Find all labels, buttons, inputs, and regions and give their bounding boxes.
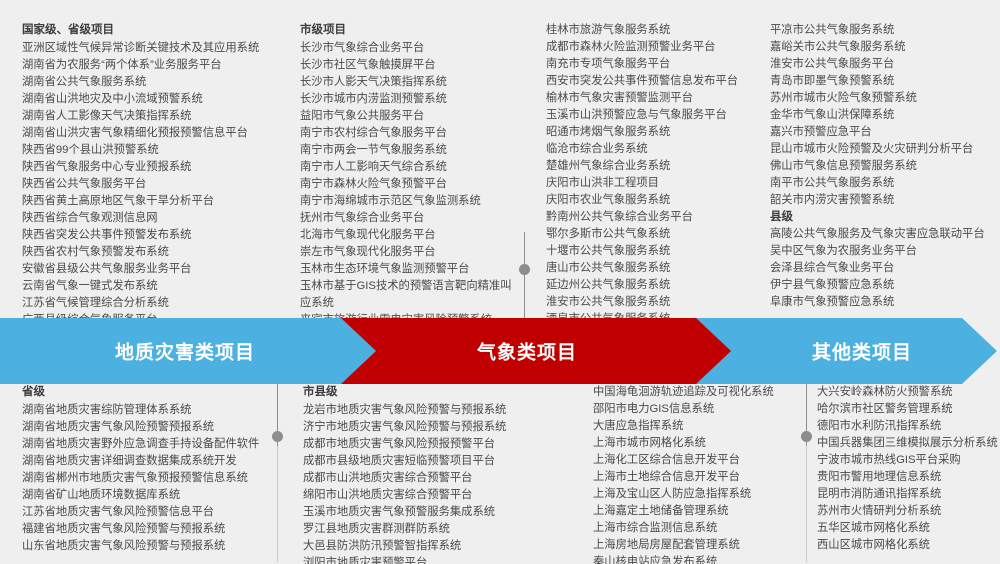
project-item: 南充市专项气象服务平台 [546,56,742,73]
project-item: 桂林市旅游气象服务系统 [546,22,742,39]
project-item: 南平市公共气象服务系统 [770,175,994,192]
project-item: 长沙市社区气象触摸屏平台 [300,57,518,74]
project-item: 中国海龟洄游轨迹追踪及可视化系统 [593,384,789,401]
project-item: 延边州公共气象服务系统 [546,277,742,294]
project-item: 苏州市火情研判分析系统 [817,503,994,520]
project-item: 亚洲区域性气候异常诊断关键技术及其应用系统 [22,40,272,57]
project-item: 会泽县综合气象业务平台 [770,260,994,277]
column-heading: 省级 [22,384,275,401]
geology-and-other-projects-region: 省级 湖南省地质灾害综防管理体系系统 湖南省地质灾害气象风险预警预报系统 湖南省… [0,384,1000,564]
project-item: 湖南省矿山地质环境数据库系统 [22,487,275,504]
column-heading: 市级项目 [300,22,518,39]
project-item: 唐山市公共气象服务系统 [546,260,742,277]
top-column-county-level: 平凉市公共气象服务系统 嘉峪关市公共气象服务系统 淮安市公共气象服务平台 青岛市… [748,22,1000,318]
project-item: 成都市森林火险监测预警业务平台 [546,39,742,56]
project-item: 韶关市内涝灾害预警系统 [770,192,994,209]
project-item: 上海市综合监测信息系统 [593,520,789,537]
project-item: 青岛市即墨气象预警系统 [770,73,994,90]
project-item: 哈尔滨市社区警务管理系统 [817,401,994,418]
project-item: 山东省地质灾害气象风险预警与预报系统 [22,538,275,555]
project-item: 南宁市农村综合气象服务平台 [300,125,518,142]
project-item: 陕西省99个县山洪预警系统 [22,142,272,159]
project-item: 湖南省人工影像天气决策指挥系统 [22,108,272,125]
project-item: 大兴安岭森林防火预警系统 [817,384,994,401]
project-item: 阜康市气象预警应急系统 [770,294,994,311]
project-item: 益阳市气象公共服务平台 [300,108,518,125]
project-item: 湖南省为农服务“两个体系”业务服务平台 [22,57,272,74]
project-item: 西山区城市网格化系统 [817,537,994,554]
bottom-column-provincial: 省级 湖南省地质灾害综防管理体系系统 湖南省地质灾害气象风险预警预报系统 湖南省… [0,384,281,564]
bottom-column-other-projects: 中国海龟洄游轨迹追踪及可视化系统 邵阳市电力GIS信息系统 大唐应急指挥系统 上… [571,384,795,564]
project-item: 嘉兴市预警应急平台 [770,124,994,141]
project-item: 平凉市公共气象服务系统 [770,22,994,39]
project-item: 成都市地质灾害气象风险预报预警平台 [303,436,565,453]
project-item: 淮安市公共气象服务平台 [770,56,994,73]
project-item: 昆山市城市火险预警及火灾研判分析平台 [770,141,994,158]
project-item: 秦山核电站应急发布系统 [593,554,789,564]
connector-dot-weather [519,264,530,275]
project-item: 玉林市生态环境气象监测预警平台 [300,261,518,278]
project-item: 陕西省突发公共事件预警发布系统 [22,227,272,244]
project-item: 吴中区气象为农服务业务平台 [770,243,994,260]
project-item: 邵阳市电力GIS信息系统 [593,401,789,418]
connector-dot-geology [272,431,283,442]
top-column-national-provincial: 国家级、省级项目 亚洲区域性气候异常诊断关键技术及其应用系统 湖南省为农服务“两… [0,22,278,318]
project-item: 伊宁县气象预警应急系统 [770,277,994,294]
project-item: 南宁市两会一节气象服务系统 [300,142,518,159]
top-column-city-level: 市级项目 长沙市气象综合业务平台 长沙市社区气象触摸屏平台 长沙市人影天气决策指… [278,22,524,318]
banner-label-weather: 气象类项目 [477,338,577,365]
connector-dot-other [801,431,812,442]
project-item: 上海及宝山区人防应急指挥系统 [593,486,789,503]
project-item: 庆阳市山洪非工程项目 [546,175,742,192]
project-item: 陕西省农村气象预警发布系统 [22,244,272,261]
project-item: 嘉峪关市公共气象服务系统 [770,39,994,56]
project-item: 玉溪市地质灾害气象预警服务集成系统 [303,504,565,521]
column-heading: 市县级 [303,384,565,401]
project-item: 苏州市城市火险气象预警系统 [770,90,994,107]
project-item: 德阳市水利防汛指挥系统 [817,418,994,435]
connector-line-weather [524,232,525,318]
project-item: 陕西省综合气象观测信息网 [22,210,272,227]
project-item: 黔南州公共气象综合业务平台 [546,209,742,226]
project-item: 庆阳市农业气象服务系统 [546,192,742,209]
project-item: 绵阳市山洪地质灾害综合预警平台 [303,487,565,504]
project-item: 云南省气象一键式发布系统 [22,278,272,295]
slide-root: 国家级、省级项目 亚洲区域性气候异常诊断关键技术及其应用系统 湖南省为农服务“两… [0,0,1000,564]
project-item: 济宁市地质灾害气象风险预警与预报系统 [303,419,565,436]
project-item: 鄂尔多斯市公共气象系统 [546,226,742,243]
project-item: 长沙市城市内涝监测预警系统 [300,91,518,108]
project-item: 南宁市森林火险气象预警平台 [300,176,518,193]
project-item: 安徽省县级公共气象服务业务平台 [22,261,272,278]
project-item: 贵阳市警用地理信息系统 [817,469,994,486]
project-item: 上海市城市网格化系统 [593,435,789,452]
project-item: 浏阳市地质灾害预警平台 [303,555,565,564]
banner-label-other: 其他类项目 [812,338,912,365]
project-item: 抚州市气象综合业务平台 [300,210,518,227]
weather-projects-region: 国家级、省级项目 亚洲区域性气候异常诊断关键技术及其应用系统 湖南省为农服务“两… [0,0,1000,318]
column-heading: 国家级、省级项目 [22,22,272,39]
project-item: 湖南省地质灾害详细调查数据集成系统开发 [22,453,275,470]
project-item: 临沧市综合业务系统 [546,141,742,158]
category-banner: 地质灾害类项目 气象类项目 其他类项目 [0,318,1000,384]
project-item: 江苏省气候管理综合分析系统 [22,295,272,312]
project-item: 高陵公共气象服务及气象灾害应急联动平台 [770,226,994,243]
project-item: 湖南省地质灾害气象风险预警预报系统 [22,419,275,436]
project-item: 成都市山洪地质灾害综合预警平台 [303,470,565,487]
project-item: 湖南省郴州市地质灾害气象预报预警信息系统 [22,470,275,487]
project-item: 湖南省山洪灾害气象精细化预报预警信息平台 [22,125,272,142]
project-item: 长沙市气象综合业务平台 [300,40,518,57]
project-item: 玉林市基于GIS技术的预警语言靶向精准叫应系统 [300,278,518,312]
project-item: 金华市气象山洪保障系统 [770,107,994,124]
project-item: 楚雄州气象综合业务系统 [546,158,742,175]
project-item: 五华区城市网格化系统 [817,520,994,537]
project-item: 中国兵器集团三维模拟展示分析系统 [817,435,994,452]
bottom-column-city-county: 市县级 龙岩市地质灾害气象风险预警与预报系统 济宁市地质灾害气象风险预警与预报系… [281,384,571,564]
top-column-city-level-continued: 桂林市旅游气象服务系统 成都市森林火险监测预警业务平台 南充市专项气象服务平台 … [524,22,748,318]
bottom-column-other-projects-continued: 大兴安岭森林防火预警系统 哈尔滨市社区警务管理系统 德阳市水利防汛指挥系统 中国… [795,384,1000,564]
project-item: 昭通市烤烟气象服务系统 [546,124,742,141]
project-item: 南宁市海绵城市示范区气象监测系统 [300,193,518,210]
project-item: 长沙市人影天气决策指挥系统 [300,74,518,91]
project-item: 大唐应急指挥系统 [593,418,789,435]
project-item: 上海嘉定土地储备管理系统 [593,503,789,520]
project-item: 龙岩市地质灾害气象风险预警与预报系统 [303,402,565,419]
project-item: 十堰市公共气象服务系统 [546,243,742,260]
project-item: 上海市土地综合信息开发平台 [593,469,789,486]
project-item: 宁波市城市热线GIS平台采购 [817,452,994,469]
project-item: 西安市突发公共事件预警信息发布平台 [546,73,742,90]
project-item: 江苏省地质灾害气象风险预警信息平台 [22,504,275,521]
project-item: 昆明市消防通讯指挥系统 [817,486,994,503]
project-item: 湖南省公共气象服务系统 [22,74,272,91]
column-subheading: 县级 [770,209,994,226]
project-item: 罗江县地质灾害群测群防系统 [303,521,565,538]
project-item: 上海房地局房屋配套管理系统 [593,537,789,554]
project-item: 榆林市气象灾害预警监测平台 [546,90,742,107]
project-item: 福建省地质灾害气象风险预警与预报系统 [22,521,275,538]
project-item: 大邑县防洪防汛预警智指挥系统 [303,538,565,555]
project-item: 陕西省公共气象服务平台 [22,176,272,193]
project-item: 陕西省黄土高原地区气象干旱分析平台 [22,193,272,210]
project-item: 陕西省气象服务中心专业预报系统 [22,159,272,176]
project-item: 佛山市气象信息预警服务系统 [770,158,994,175]
project-item: 淮安市公共气象服务系统 [546,294,742,311]
project-item: 玉溪市山洪预警应急与气象服务平台 [546,107,742,124]
project-item: 北海市气象现代化服务平台 [300,227,518,244]
project-item: 上海化工区综合信息开发平台 [593,452,789,469]
project-item: 湖南省山洪地灾及中小流域预警系统 [22,91,272,108]
project-item: 湖南省地质灾害综防管理体系系统 [22,402,275,419]
project-item: 崇左市气象现代化服务平台 [300,244,518,261]
project-item: 成都市县级地质灾害短临预警项目平台 [303,453,565,470]
banner-label-geology: 地质灾害类项目 [115,338,255,365]
project-item: 湖南省地质灾害野外应急调查手持设备配件软件 [22,436,275,453]
project-item: 南宁市人工影响天气综合系统 [300,159,518,176]
